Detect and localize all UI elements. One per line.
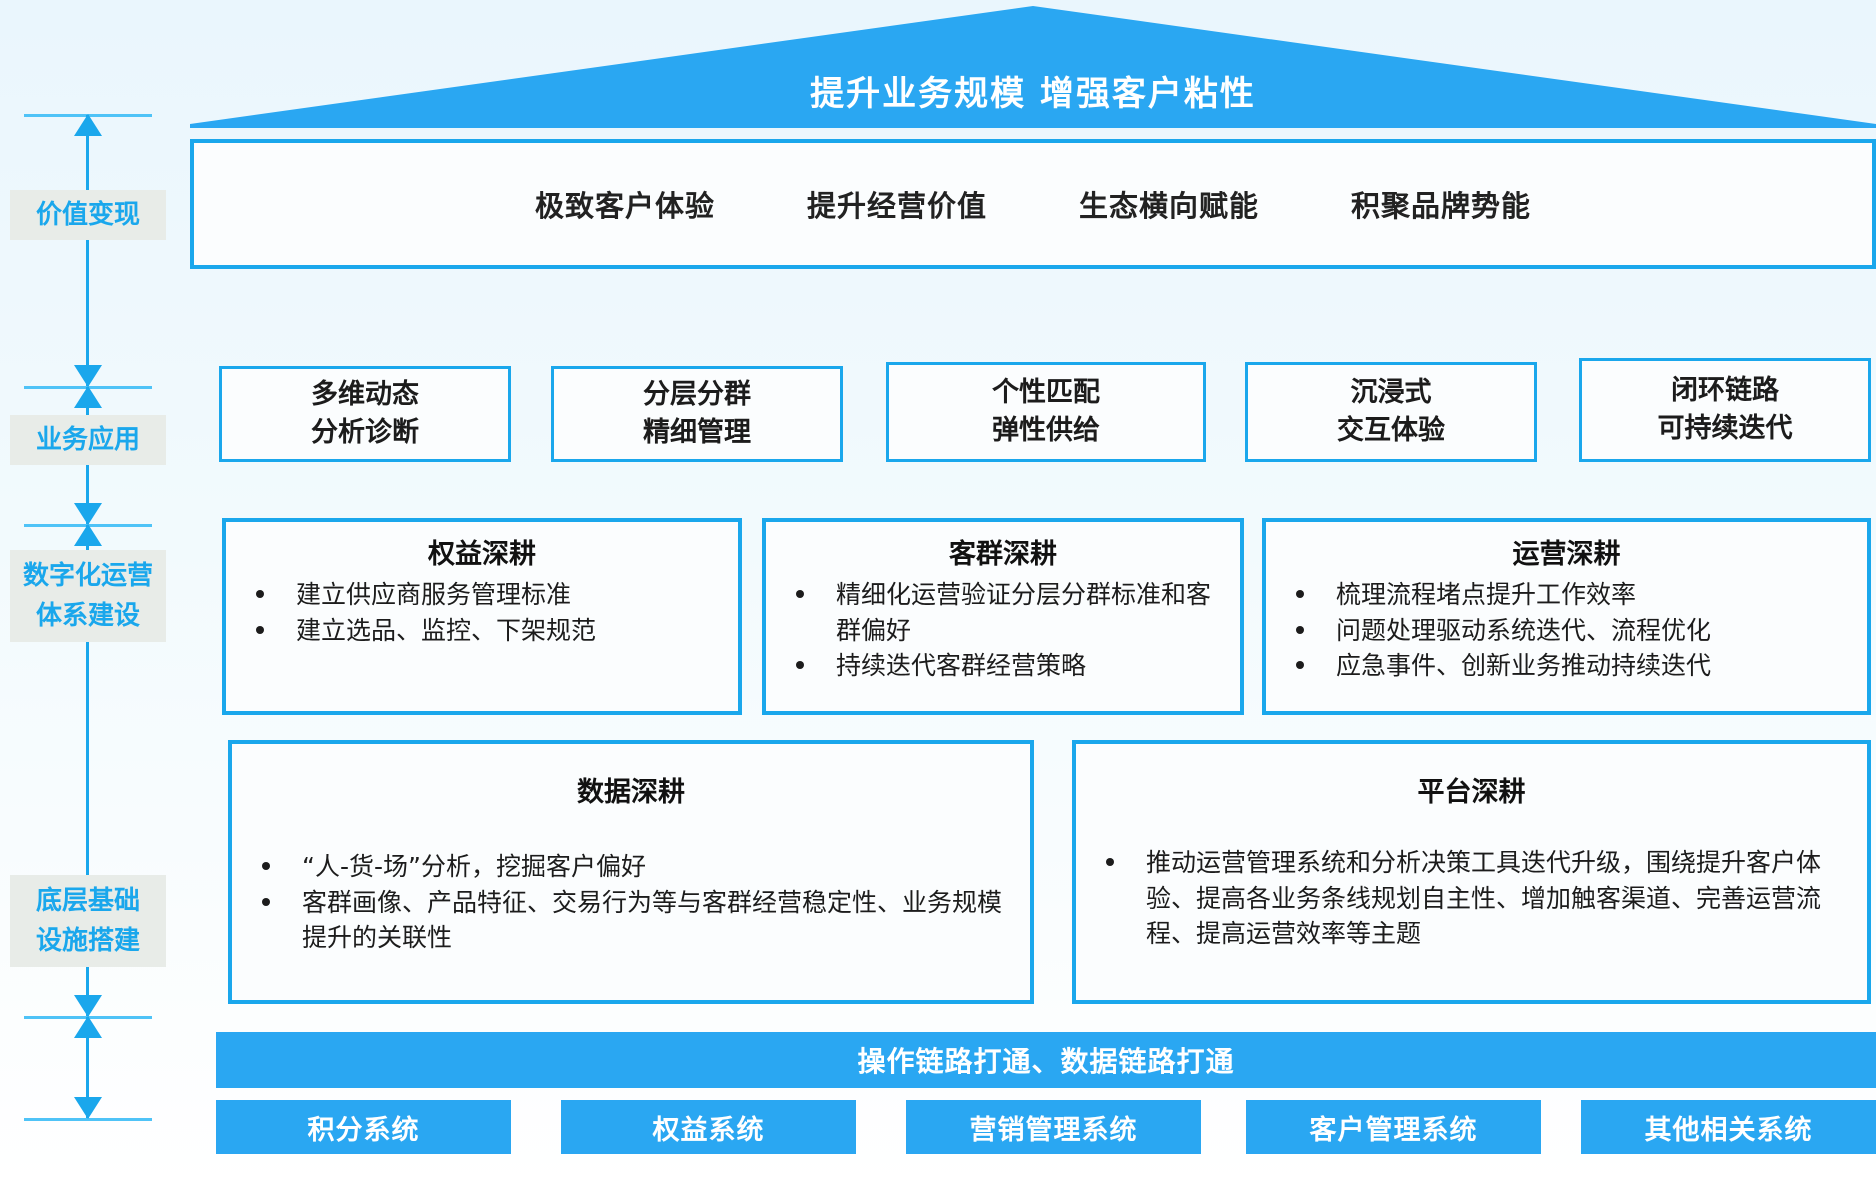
list-item: 建立选品、监控、下架规范 <box>234 613 730 649</box>
list-item: 推动运营管理系统和分析决策工具迭代升级，围绕提升客户体验、提高各业务条线规划自主… <box>1084 845 1859 952</box>
rail-tag-label-line2: 体系建设 <box>10 596 166 636</box>
app-box-line1: 多维动态 <box>311 376 419 414</box>
list-item: 建立供应商服务管理标准 <box>234 577 730 613</box>
value-item-2: 生态横向赋能 <box>1079 183 1259 225</box>
deep-box-rights[interactable]: 权益深耕 建立供应商服务管理标准 建立选品、监控、下架规范 <box>222 518 742 715</box>
deep-box-title: 数据深耕 <box>240 770 1022 809</box>
system-box-customer[interactable]: 客户管理系统 <box>1246 1100 1541 1154</box>
rail-tag-label-line1: 底层基础 <box>10 881 166 921</box>
list-item-text: 客群画像、产品特征、交易行为等与客群经营稳定性、业务规模提升的关联性 <box>302 888 1002 953</box>
deep-box-list: 建立供应商服务管理标准 建立选品、监控、下架规范 <box>234 577 730 648</box>
rail-tag-label-line2: 设施搭建 <box>10 921 166 961</box>
deep-box-title: 运营深耕 <box>1274 532 1859 571</box>
bullet-icon <box>256 590 264 598</box>
deep-box-customer-group[interactable]: 客群深耕 精细化运营验证分层分群标准和客群偏好 持续迭代客群经营策略 <box>762 518 1244 715</box>
rail-tag-label: 价值变现 <box>36 200 140 230</box>
value-item-1: 提升经营价值 <box>807 183 987 225</box>
rail-tag-value-realization: 价值变现 <box>10 190 166 240</box>
app-box-line1: 个性匹配 <box>992 374 1100 412</box>
rail-arrow-infra <box>86 1017 89 1118</box>
deep-box-operations[interactable]: 运营深耕 梳理流程堵点提升工作效率 问题处理驱动系统迭代、流程优化 应急事件、创… <box>1262 518 1871 715</box>
left-rail: 价值变现 业务应用 数字化运营 体系建设 底层基础 设施搭建 <box>0 110 176 1122</box>
app-box-line2: 可持续迭代 <box>1658 410 1793 448</box>
deep-box-list: 推动运营管理系统和分析决策工具迭代升级，围绕提升客户体验、提高各业务条线规划自主… <box>1084 845 1859 952</box>
app-box-line2: 交互体验 <box>1337 412 1445 450</box>
bullet-icon <box>796 590 804 598</box>
list-item-text: 问题处理驱动系统迭代、流程优化 <box>1336 616 1711 645</box>
list-item: 梳理流程堵点提升工作效率 <box>1274 577 1859 613</box>
list-item: 应急事件、创新业务推动持续迭代 <box>1274 648 1859 684</box>
deep-box-title: 权益深耕 <box>234 532 730 571</box>
list-item-text: 梳理流程堵点提升工作效率 <box>1336 580 1636 609</box>
app-box-multidim-analysis[interactable]: 多维动态 分析诊断 <box>219 366 511 462</box>
system-box-label: 权益系统 <box>653 1108 765 1147</box>
app-box-line2: 弹性供给 <box>992 412 1100 450</box>
value-realization-items: 极致客户体验 提升经营价值 生态横向赋能 积聚品牌势能 <box>194 143 1872 265</box>
app-box-closed-loop[interactable]: 闭环链路 可持续迭代 <box>1579 358 1871 462</box>
app-box-personalized-match[interactable]: 个性匹配 弹性供给 <box>886 362 1206 462</box>
bullet-icon <box>262 898 270 906</box>
system-box-points[interactable]: 积分系统 <box>216 1100 511 1154</box>
bullet-icon <box>1106 858 1114 866</box>
deep-box-list: “人-货-场”分析，挖掘客户偏好 客群画像、产品特征、交易行为等与客群经营稳定性… <box>240 849 1022 956</box>
roof-title: 提升业务规模 增强客户粘性 <box>190 6 1876 128</box>
rail-tag-label-line1: 数字化运营 <box>10 556 166 596</box>
app-box-segmentation[interactable]: 分层分群 精细管理 <box>551 366 843 462</box>
bullet-icon <box>796 661 804 669</box>
list-item: 问题处理驱动系统迭代、流程优化 <box>1274 613 1859 649</box>
infra-banner-label: 操作链路打通、数据链路打通 <box>857 1040 1234 1080</box>
diagram-canvas: 提升业务规模 增强客户粘性 价值变现 业务应用 数字化运营 体系建设 底层基础 … <box>0 0 1876 1186</box>
deep-box-list: 精细化运营验证分层分群标准和客群偏好 持续迭代客群经营策略 <box>774 577 1232 684</box>
app-box-line1: 沉浸式 <box>1351 374 1432 412</box>
list-item-text: 持续迭代客群经营策略 <box>836 651 1086 680</box>
list-item: 持续迭代客群经营策略 <box>774 648 1232 684</box>
system-box-rights[interactable]: 权益系统 <box>561 1100 856 1154</box>
infra-banner: 操作链路打通、数据链路打通 <box>216 1032 1876 1088</box>
app-box-line1: 分层分群 <box>643 376 751 414</box>
deep-box-title: 客群深耕 <box>774 532 1232 571</box>
rail-tag-infrastructure: 底层基础 设施搭建 <box>10 875 166 967</box>
app-box-line2: 分析诊断 <box>311 414 419 452</box>
value-realization-box: 极致客户体验 提升经营价值 生态横向赋能 积聚品牌势能 <box>190 139 1876 269</box>
list-item-text: 建立选品、监控、下架规范 <box>296 616 596 645</box>
system-box-label: 积分系统 <box>308 1108 420 1147</box>
rail-tag-digital-ops: 数字化运营 体系建设 <box>10 550 166 642</box>
app-box-line2: 精细管理 <box>643 414 751 452</box>
list-item: 精细化运营验证分层分群标准和客群偏好 <box>774 577 1232 648</box>
bullet-icon <box>1296 590 1304 598</box>
list-item-text: 精细化运营验证分层分群标准和客群偏好 <box>836 580 1211 645</box>
list-item-text: 推动运营管理系统和分析决策工具迭代升级，围绕提升客户体验、提高各业务条线规划自主… <box>1146 848 1821 948</box>
system-box-label: 客户管理系统 <box>1310 1108 1478 1147</box>
system-box-marketing[interactable]: 营销管理系统 <box>906 1100 1201 1154</box>
list-item: “人-货-场”分析，挖掘客户偏好 <box>240 849 1022 885</box>
list-item: 客群画像、产品特征、交易行为等与客群经营稳定性、业务规模提升的关联性 <box>240 885 1022 956</box>
bullet-icon <box>262 862 270 870</box>
deep-box-platform[interactable]: 平台深耕 推动运营管理系统和分析决策工具迭代升级，围绕提升客户体验、提高各业务条… <box>1072 740 1871 1004</box>
deep-box-data[interactable]: 数据深耕 “人-货-场”分析，挖掘客户偏好 客群画像、产品特征、交易行为等与客群… <box>228 740 1034 1004</box>
value-item-3: 积聚品牌势能 <box>1351 183 1531 225</box>
system-box-label: 营销管理系统 <box>970 1108 1138 1147</box>
app-box-line1: 闭环链路 <box>1671 372 1779 410</box>
deep-box-list: 梳理流程堵点提升工作效率 问题处理驱动系统迭代、流程优化 应急事件、创新业务推动… <box>1274 577 1859 684</box>
list-item-text: “人-货-场”分析，挖掘客户偏好 <box>302 852 646 881</box>
list-item-text: 建立供应商服务管理标准 <box>296 580 571 609</box>
roof-shape: 提升业务规模 增强客户粘性 <box>190 6 1876 128</box>
bullet-icon <box>1296 661 1304 669</box>
bullet-icon <box>256 626 264 634</box>
rail-tag-label: 业务应用 <box>36 425 140 455</box>
system-box-label: 其他相关系统 <box>1645 1108 1813 1147</box>
app-box-immersive-interaction[interactable]: 沉浸式 交互体验 <box>1245 362 1537 462</box>
rail-arrow-value <box>86 115 89 386</box>
bullet-icon <box>1296 626 1304 634</box>
rail-tag-business-app: 业务应用 <box>10 415 166 465</box>
list-item-text: 应急事件、创新业务推动持续迭代 <box>1336 651 1711 680</box>
value-item-0: 极致客户体验 <box>535 183 715 225</box>
deep-box-title: 平台深耕 <box>1084 770 1859 809</box>
system-box-other[interactable]: 其他相关系统 <box>1581 1100 1876 1154</box>
